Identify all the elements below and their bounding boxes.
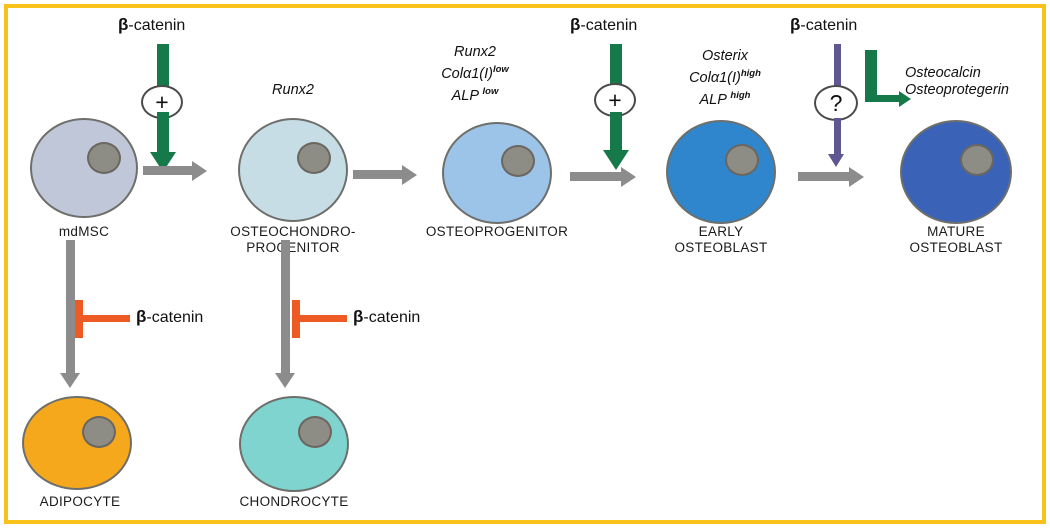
unknown-question-circle: ?	[814, 85, 858, 121]
marker-alp-op-sup: low	[483, 86, 499, 97]
adipocyte-arrow-shaft	[66, 240, 75, 375]
cell-mdmsc	[30, 118, 138, 218]
adipocyte-arrow-head	[60, 373, 80, 388]
cell-mature-osteoblast	[900, 120, 1012, 224]
marker-runx2-op: Runx2	[454, 44, 496, 60]
nucleus-adipocyte	[82, 416, 116, 448]
transition-arrow-4-head	[849, 167, 864, 187]
pathway-diagram: β-catenin β-catenin β-catenin + + ?	[0, 0, 1050, 528]
cell-osteoprogenitor	[442, 122, 552, 224]
nucleus-osteoprogenitor	[501, 145, 535, 177]
transition-arrow-2-head	[402, 165, 417, 185]
marker-col1a1-eob: Colα1(I)	[689, 70, 741, 86]
marker-alp-op: ALP	[452, 88, 483, 104]
catenin-text-4: -catenin	[146, 309, 203, 326]
chondrocyte-arrow-shaft	[281, 240, 290, 375]
transition-arrow-1-shaft	[143, 166, 193, 175]
unknown-arrow-shaft-lower	[834, 118, 841, 156]
nucleus-chondrocyte	[298, 416, 332, 448]
marker-col1a1-op-sup: low	[493, 64, 509, 75]
cell-early-osteoblast	[666, 120, 776, 224]
marker-alp-eob: ALP	[700, 92, 731, 108]
activation-arrow-2-shaft	[610, 44, 622, 84]
output-osteocalcin: Osteocalcin	[905, 65, 1009, 82]
output-osteoprotegerin: Osteoprotegerin	[905, 82, 1009, 99]
transition-arrow-1-head	[192, 161, 207, 181]
mature-output-arrow-horizontal	[865, 95, 901, 102]
beta-catenin-caption-5: β-catenin	[353, 307, 420, 327]
marker-col1a1-op: Colα1(I)	[441, 66, 493, 82]
cell-label-mature-osteoblast: MATURE OSTEOBLAST	[876, 224, 1036, 256]
activation-arrow-2-shaft-lower	[610, 112, 622, 152]
inhibition-stem-adipocyte	[80, 315, 130, 322]
cell-label-adipocyte: ADIPOCYTE	[5, 494, 155, 510]
beta-symbol-4: β	[136, 307, 146, 326]
cell-adipocyte	[22, 396, 132, 490]
nucleus-mature-osteoblast	[960, 144, 994, 176]
cell-label-early-osteoblast: EARLY OSTEOBLAST	[641, 224, 801, 256]
cell-osteochondro-progenitor	[238, 118, 348, 222]
cell-chondrocyte	[239, 396, 349, 492]
marker-runx2-ocp: Runx2	[238, 82, 348, 99]
chondrocyte-arrow-head	[275, 373, 295, 388]
unknown-arrow-shaft	[834, 44, 841, 88]
osteoprogenitor-markers: Runx2 Colα1(I)low ALP low	[410, 44, 540, 105]
mature-osteoblast-outputs: Osteocalcin Osteoprotegerin	[905, 65, 1009, 99]
catenin-text-1: -catenin	[128, 17, 185, 34]
beta-catenin-caption-4: β-catenin	[136, 307, 203, 327]
marker-alp-eob-sup: high	[730, 90, 750, 101]
question-symbol: ?	[830, 92, 843, 115]
marker-osterix-eob: Osterix	[702, 48, 748, 64]
nucleus-mdmsc	[87, 142, 121, 174]
transition-arrow-4-shaft	[798, 172, 850, 181]
beta-catenin-caption-2: β-catenin	[570, 15, 637, 35]
plus-symbol-1: +	[155, 91, 168, 114]
activation-arrow-1-shaft-lower	[157, 112, 169, 154]
catenin-text-3: -catenin	[800, 17, 857, 34]
cell-label-chondrocyte: CHONDROCYTE	[214, 494, 374, 510]
beta-catenin-caption-3: β-catenin	[790, 15, 857, 35]
beta-symbol-5: β	[353, 307, 363, 326]
figure-canvas: β-catenin β-catenin β-catenin + + ?	[0, 0, 1050, 528]
nucleus-osteochondro-progenitor	[297, 142, 331, 174]
cell-label-osteochondro-progenitor: OSTEOCHONDRO- PROGENITOR	[203, 224, 383, 256]
unknown-arrow-head	[828, 154, 844, 167]
transition-arrow-3-head	[621, 167, 636, 187]
marker-col1a1-eob-sup: high	[741, 68, 761, 79]
catenin-text-5: -catenin	[363, 309, 420, 326]
catenin-text-2: -catenin	[580, 17, 637, 34]
beta-symbol-2: β	[570, 15, 580, 34]
nucleus-early-osteoblast	[725, 144, 759, 176]
transition-arrow-3-shaft	[570, 172, 622, 181]
osteochondro-progenitor-markers: Runx2	[238, 82, 348, 99]
beta-symbol-1: β	[118, 15, 128, 34]
early-osteoblast-markers: Osterix Colα1(I)high ALP high	[655, 48, 795, 109]
cell-label-osteoprogenitor: OSTEOPROGENITOR	[407, 224, 587, 240]
inhibition-stem-chondrocyte	[297, 315, 347, 322]
beta-catenin-caption-1: β-catenin	[118, 15, 185, 35]
beta-symbol-3: β	[790, 15, 800, 34]
cell-label-mdmsc: mdMSC	[14, 224, 154, 240]
plus-symbol-2: +	[608, 89, 621, 112]
transition-arrow-2-shaft	[353, 170, 403, 179]
